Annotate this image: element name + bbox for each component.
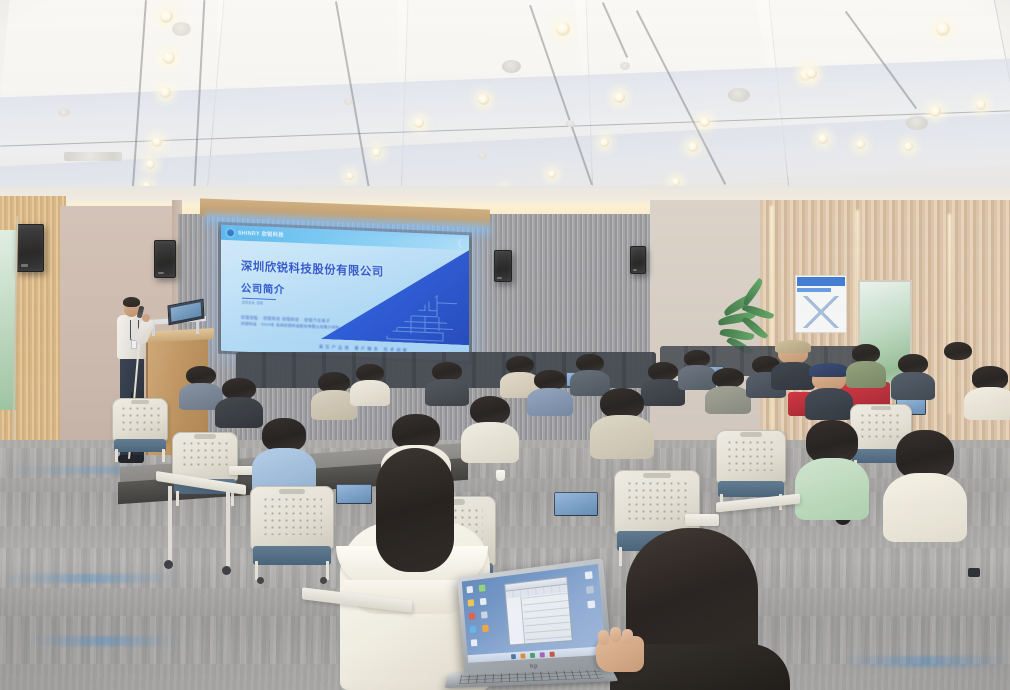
attendee-torso [771,362,814,390]
desktop-icon[interactable] [481,611,488,618]
attendee [972,366,1008,418]
desktop-icon[interactable] [469,613,476,620]
chair-back [250,486,334,550]
attendee-torso [425,379,468,406]
wall-speaker [16,224,44,272]
ceiling-downlight-off [478,152,487,159]
ceiling [0,0,1010,215]
ceiling-downlight [936,22,950,36]
attendee-torso [805,388,854,420]
chair-leg [226,492,230,566]
attendee-torso [846,361,886,388]
attendee-laptop [554,492,598,516]
attendee-torso [527,388,573,416]
attendee-torso [964,387,1010,420]
attendee-torso [678,365,715,389]
ceiling-downlight [904,142,913,151]
wall-speaker [154,240,176,278]
attendee [356,364,384,404]
ceiling-downlight [818,134,828,144]
windows-taskbar[interactable] [468,646,606,662]
ceiling-downlight [152,137,162,147]
foreground-laptop[interactable]: hp [432,568,618,690]
laptop-brand-logo: hp [530,664,539,670]
ceiling-downlight [930,106,941,117]
ceiling-downlight [688,142,698,152]
ceiling-downlight-off [58,108,70,117]
desktop-icon[interactable] [466,586,473,593]
chair[interactable] [250,486,334,580]
ceiling-downlight [163,52,175,64]
attendee [898,354,928,398]
chair-leg [168,486,172,564]
attendee [648,362,678,404]
ceiling-speaker [906,116,928,130]
chair-frame [115,449,164,462]
chair-frame [255,561,329,580]
attendee [600,388,644,456]
desktop-icon[interactable] [471,639,478,646]
chair-back [112,398,168,442]
ceiling-downlight [556,22,570,36]
presenter-hand [142,314,150,322]
desktop-icon[interactable] [482,625,489,632]
attendee [852,344,880,386]
ceiling-downlight-off [172,22,191,36]
attendee-hair [376,448,454,572]
attendee-torso [590,415,653,459]
ceiling-downlight [146,160,155,169]
desktop-icon[interactable] [586,586,594,594]
open-window[interactable] [504,576,573,646]
wall-speaker [494,250,512,282]
attendee-torso [705,386,751,414]
screen-frame [218,222,472,365]
ceiling-downlight [700,117,710,127]
attendee-torso [215,397,264,428]
ceiling-downlight [160,87,171,98]
attendee-with-cap [812,368,846,418]
poster-subheader-band [797,288,831,292]
chair-tablet-arm[interactable] [685,514,719,526]
attendee [186,366,216,408]
laptop-screen[interactable] [462,564,606,663]
ceiling-downlight [548,170,556,178]
chair-tablet-arm[interactable] [229,466,255,475]
attendee [318,372,350,418]
podium-support [196,320,199,334]
attendee [222,378,256,426]
ceiling-downlight [614,92,625,103]
ceiling-downlight [976,100,986,110]
ceiling-downlight-off [344,98,353,105]
attendee [712,368,744,412]
attendee [432,362,462,404]
wall-speaker [630,246,646,274]
ceiling-downlight [478,94,489,105]
attendee [262,418,306,492]
ceiling-downlight [160,10,173,23]
ceiling-downlight-off [620,62,630,70]
attendee-head [262,418,306,452]
conference-room-photo: SHINRY 欣锐科技 《 深圳欣锐科技股份有限公司 [0,0,1010,690]
ceiling-speaker [502,60,521,73]
chair-back [716,430,786,484]
ceiling-downlight [856,140,865,149]
chair-caster [222,566,231,575]
podium-laptop-screen [171,302,202,322]
desktop-icon[interactable] [479,584,486,591]
attendee [896,430,954,538]
ceiling-downlight-off [566,120,575,127]
desktop-icon[interactable] [587,600,595,608]
attendee [506,356,534,396]
ceiling-downlight [372,148,381,157]
attendee-torso [891,372,934,400]
presenter-hair [123,297,140,307]
ceiling-downlight [414,118,424,128]
window-content-rows [522,593,571,641]
ceiling-downlight [672,178,680,186]
projection-screen: SHINRY 欣锐科技 《 深圳欣锐科技股份有限公司 [221,225,469,361]
attendee [534,370,566,414]
chair-caster [164,560,173,569]
desktop-icon[interactable] [470,626,477,633]
paper-cup [496,470,505,481]
attendee [806,420,858,516]
wall-led-strip [948,214,951,414]
ceiling-speaker [728,88,750,102]
baseball-cap-icon [775,340,811,353]
attendee-with-cap [778,344,808,388]
ceiling-downlight [806,68,817,79]
ceiling-downlight [600,138,609,147]
ceiling-downlight [346,172,354,180]
attendee-torso [795,458,870,519]
poster-header-band [797,277,845,286]
attendee-hand-on-laptop [596,636,644,672]
wrist-watch [968,568,980,577]
desktop-icon[interactable] [585,571,593,579]
desktop-icon[interactable] [468,599,475,606]
poster-graphic [799,296,843,328]
chair[interactable] [112,398,168,462]
attendee [944,342,972,382]
attendee-torso [350,380,390,406]
desktop-icon[interactable] [480,598,487,605]
ceiling-vent [64,152,122,161]
laptop-lid[interactable]: hp [457,558,613,675]
attendee-torso [883,473,967,542]
baseball-cap-icon [809,363,849,377]
attendee [684,350,710,388]
